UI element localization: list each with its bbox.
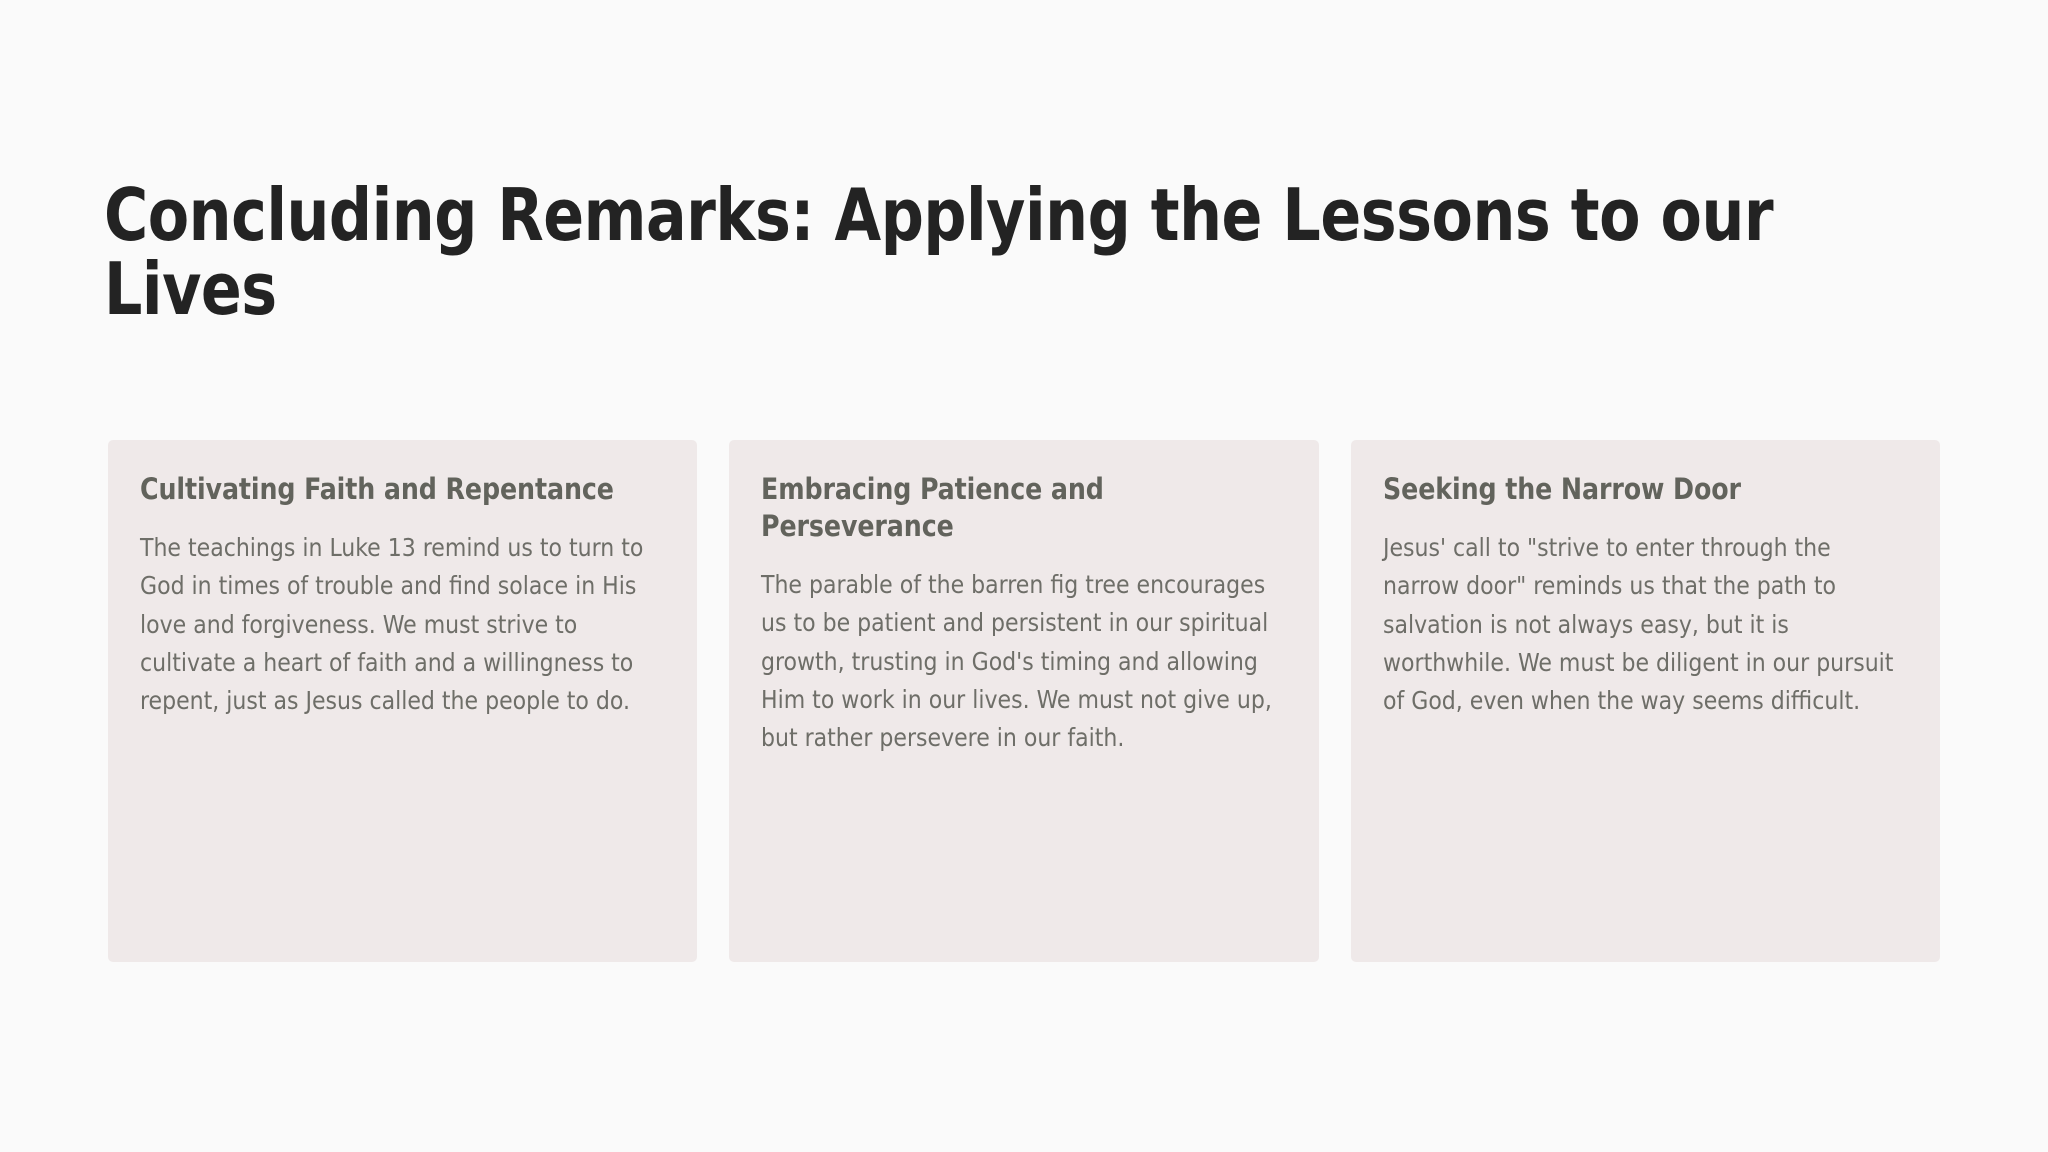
card-title: Embracing Patience and Perseverance [761,471,1271,545]
card-cultivating-faith-and-repentance: Cultivating Faith and Repentance The tea… [108,440,697,962]
slide-root: Concluding Remarks: Applying the Lessons… [0,0,2048,1152]
card-grid: Cultivating Faith and Repentance The tea… [108,440,1940,962]
card-body: The parable of the barren fig tree encou… [761,566,1276,757]
card-body: The teachings in Luke 13 remind us to tu… [140,529,655,720]
card-embracing-patience-and-perseverance: Embracing Patience and Perseverance The … [729,440,1318,962]
card-title: Seeking the Narrow Door [1383,471,1893,508]
card-title: Cultivating Faith and Repentance [140,471,650,508]
page-title: Concluding Remarks: Applying the Lessons… [104,178,1815,326]
card-body: Jesus' call to "strive to enter through … [1383,529,1898,720]
card-seeking-the-narrow-door: Seeking the Narrow Door Jesus' call to "… [1351,440,1940,962]
